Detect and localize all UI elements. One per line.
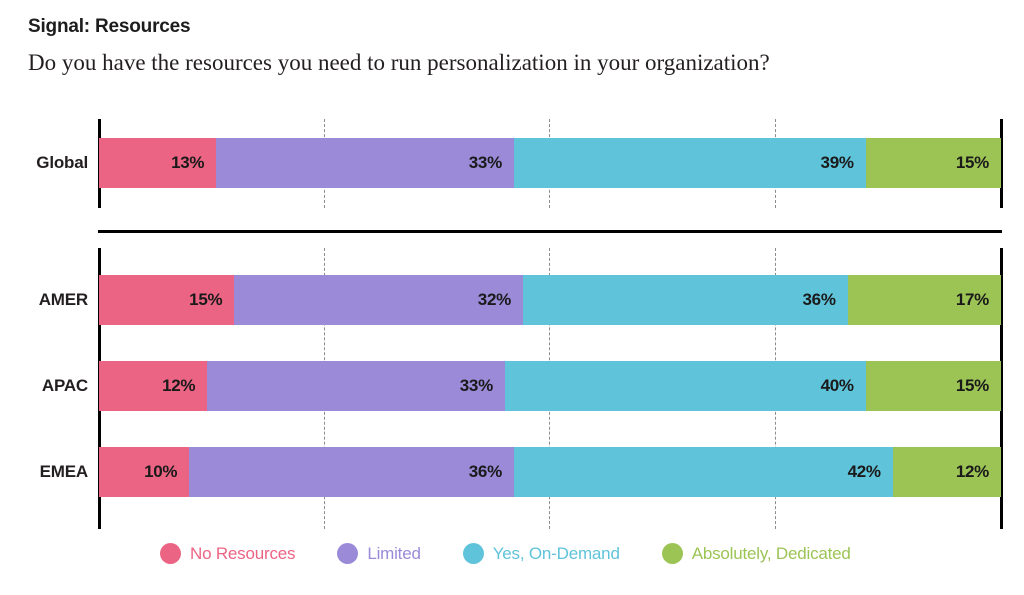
legend-label: No Resources bbox=[190, 544, 295, 564]
bar-value-label: 12% bbox=[162, 376, 195, 396]
row-label-global: Global bbox=[0, 138, 98, 188]
category-label: Global bbox=[10, 153, 98, 173]
bar-segment: 12% bbox=[99, 361, 207, 411]
bar-segment: 40% bbox=[505, 361, 866, 411]
bar-value-label: 17% bbox=[956, 290, 989, 310]
row-label-apac: APAC bbox=[0, 361, 98, 411]
bar-segment: 36% bbox=[523, 275, 848, 325]
bar-value-label: 32% bbox=[478, 290, 511, 310]
bar-segment: 15% bbox=[99, 275, 234, 325]
bar-segment: 42% bbox=[514, 447, 893, 497]
bar-segment: 36% bbox=[189, 447, 514, 497]
bar-segment: 12% bbox=[893, 447, 1001, 497]
bar-apac: 12%33%40%15% bbox=[99, 361, 1001, 411]
bar-value-label: 13% bbox=[171, 153, 204, 173]
bar-value-label: 33% bbox=[469, 153, 502, 173]
bar-segment: 39% bbox=[514, 138, 866, 188]
bar-global: 13%33%39%15% bbox=[99, 138, 1001, 188]
legend-item[interactable]: No Resources bbox=[160, 543, 295, 564]
bar-value-label: 10% bbox=[144, 462, 177, 482]
category-label: APAC bbox=[10, 376, 98, 396]
bar-value-label: 36% bbox=[469, 462, 502, 482]
bar-value-label: 39% bbox=[821, 153, 854, 173]
row-label-amer: AMER bbox=[0, 275, 98, 325]
bar-value-label: 42% bbox=[848, 462, 881, 482]
bar-segment: 32% bbox=[234, 275, 523, 325]
panel-divider bbox=[98, 230, 1002, 233]
legend-item[interactable]: Absolutely, Dedicated bbox=[662, 543, 851, 564]
bar-segment: 10% bbox=[99, 447, 189, 497]
page-title: Signal: Resources bbox=[28, 16, 190, 38]
bar-value-label: 40% bbox=[821, 376, 854, 396]
bar-segment: 15% bbox=[866, 138, 1001, 188]
bar-value-label: 36% bbox=[803, 290, 836, 310]
legend-swatch-circle-icon bbox=[463, 543, 484, 564]
bar-value-label: 12% bbox=[956, 462, 989, 482]
legend-label: Absolutely, Dedicated bbox=[692, 544, 851, 564]
bar-value-label: 15% bbox=[956, 376, 989, 396]
bar-value-label: 33% bbox=[460, 376, 493, 396]
bar-segment: 17% bbox=[848, 275, 1001, 325]
legend-item[interactable]: Yes, On-Demand bbox=[463, 543, 620, 564]
legend-swatch-circle-icon bbox=[662, 543, 683, 564]
category-label: EMEA bbox=[10, 462, 98, 482]
legend-swatch-circle-icon bbox=[160, 543, 181, 564]
legend-label: Yes, On-Demand bbox=[493, 544, 620, 564]
category-label: AMER bbox=[10, 290, 98, 310]
chart-subtitle: Do you have the resources you need to ru… bbox=[28, 50, 770, 76]
bar-emea: 10%36%42%12% bbox=[99, 447, 1001, 497]
bar-segment: 33% bbox=[207, 361, 505, 411]
bar-amer: 15%32%36%17% bbox=[99, 275, 1001, 325]
bar-segment: 15% bbox=[866, 361, 1001, 411]
legend-item[interactable]: Limited bbox=[337, 543, 420, 564]
bar-segment: 13% bbox=[99, 138, 216, 188]
legend-swatch-circle-icon bbox=[337, 543, 358, 564]
bar-value-label: 15% bbox=[189, 290, 222, 310]
chart-legend: No ResourcesLimitedYes, On-DemandAbsolut… bbox=[160, 543, 893, 564]
bar-segment: 33% bbox=[216, 138, 514, 188]
chart-page: Signal: Resources Do you have the resour… bbox=[0, 0, 1024, 595]
bar-value-label: 15% bbox=[956, 153, 989, 173]
legend-label: Limited bbox=[367, 544, 420, 564]
row-label-emea: EMEA bbox=[0, 447, 98, 497]
